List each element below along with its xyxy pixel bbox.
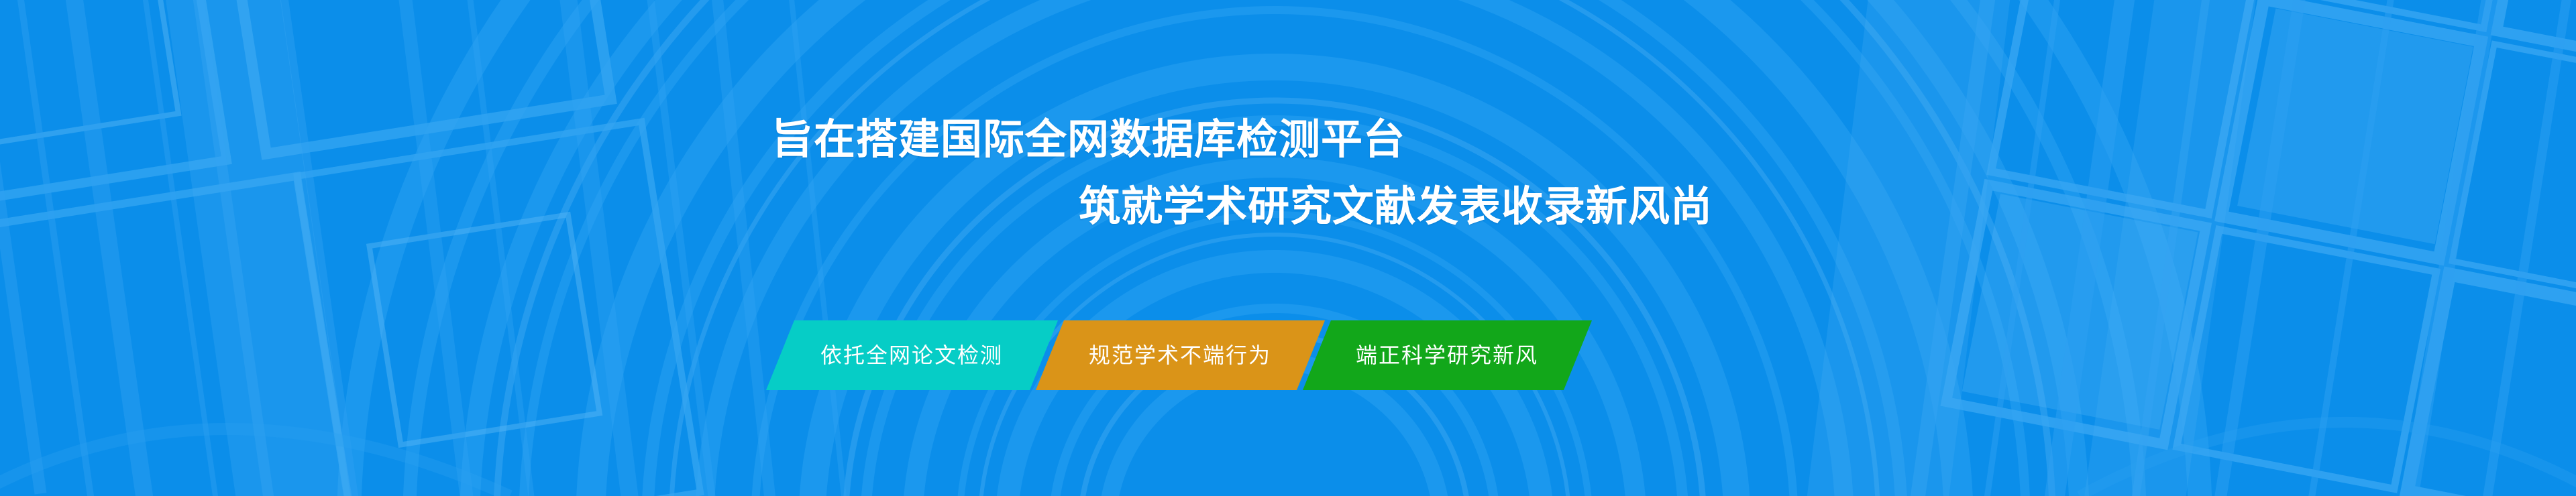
headline-block: 旨在搭建国际全网数据库检测平台 筑就学术研究文献发表收录新风尚 — [0, 119, 2576, 228]
feature-badge-misconduct[interactable]: 规范学术不端行为 — [1036, 320, 1325, 390]
feature-badge-integrity-label: 端正科学研究新风 — [1356, 345, 1538, 366]
feature-badge-misconduct-label: 规范学术不端行为 — [1089, 345, 1271, 366]
headline-line-2: 筑就学术研究文献发表收录新风尚 — [1079, 186, 2576, 228]
feature-badge-detection-label: 依托全网论文检测 — [820, 345, 1003, 366]
headline-line-1: 旨在搭建国际全网数据库检测平台 — [771, 119, 2576, 161]
feature-badge-detection[interactable]: 依托全网论文检测 — [766, 320, 1058, 390]
feature-badge-integrity[interactable]: 端正科学研究新风 — [1303, 320, 1592, 390]
promo-banner: 旨在搭建国际全网数据库检测平台 筑就学术研究文献发表收录新风尚 依托全网论文检测… — [0, 0, 2576, 496]
feature-badge-row: 依托全网论文检测 规范学术不端行为 端正科学研究新风 — [780, 320, 1578, 390]
background-decoration — [0, 0, 2576, 496]
